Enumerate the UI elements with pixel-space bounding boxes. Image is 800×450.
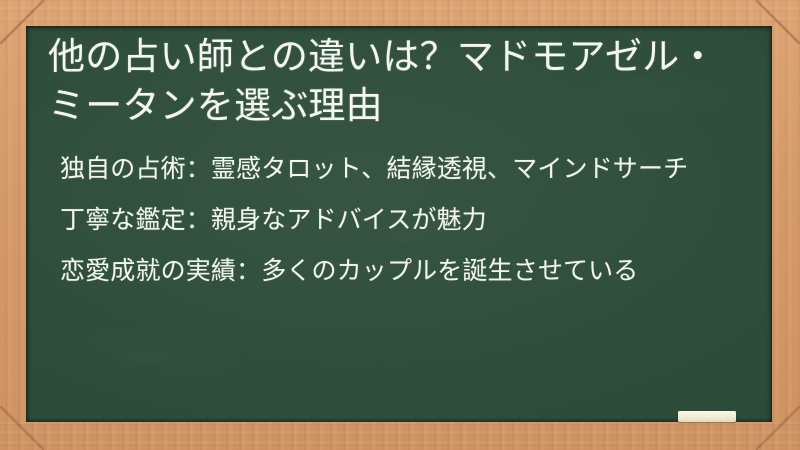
- board-content: 他の占い師との違いは？マドモアゼル・ミータンを選ぶ理由 独自の占術：霊感タロット…: [26, 26, 772, 289]
- frame-rail-bottom: [0, 422, 800, 450]
- list-item: 丁寧な鑑定：親身なアドバイスが魅力: [60, 203, 750, 238]
- list-item: 独自の占術：霊感タロット、結縁透視、マインドサーチ: [60, 152, 750, 187]
- blackboard-frame: 他の占い師との違いは？マドモアゼル・ミータンを選ぶ理由 独自の占術：霊感タロット…: [0, 0, 800, 450]
- list-item: 恋愛成就の実績：多くのカップルを誕生させている: [60, 254, 750, 289]
- frame-rail-top: [0, 0, 800, 26]
- chalk-stick: [678, 411, 736, 422]
- chalkboard-surface: 他の占い師との違いは？マドモアゼル・ミータンを選ぶ理由 独自の占術：霊感タロット…: [26, 26, 772, 422]
- board-title: 他の占い師との違いは？マドモアゼル・ミータンを選ぶ理由: [48, 32, 750, 130]
- board-point-list: 独自の占術：霊感タロット、結縁透視、マインドサーチ 丁寧な鑑定：親身なアドバイス…: [48, 152, 750, 289]
